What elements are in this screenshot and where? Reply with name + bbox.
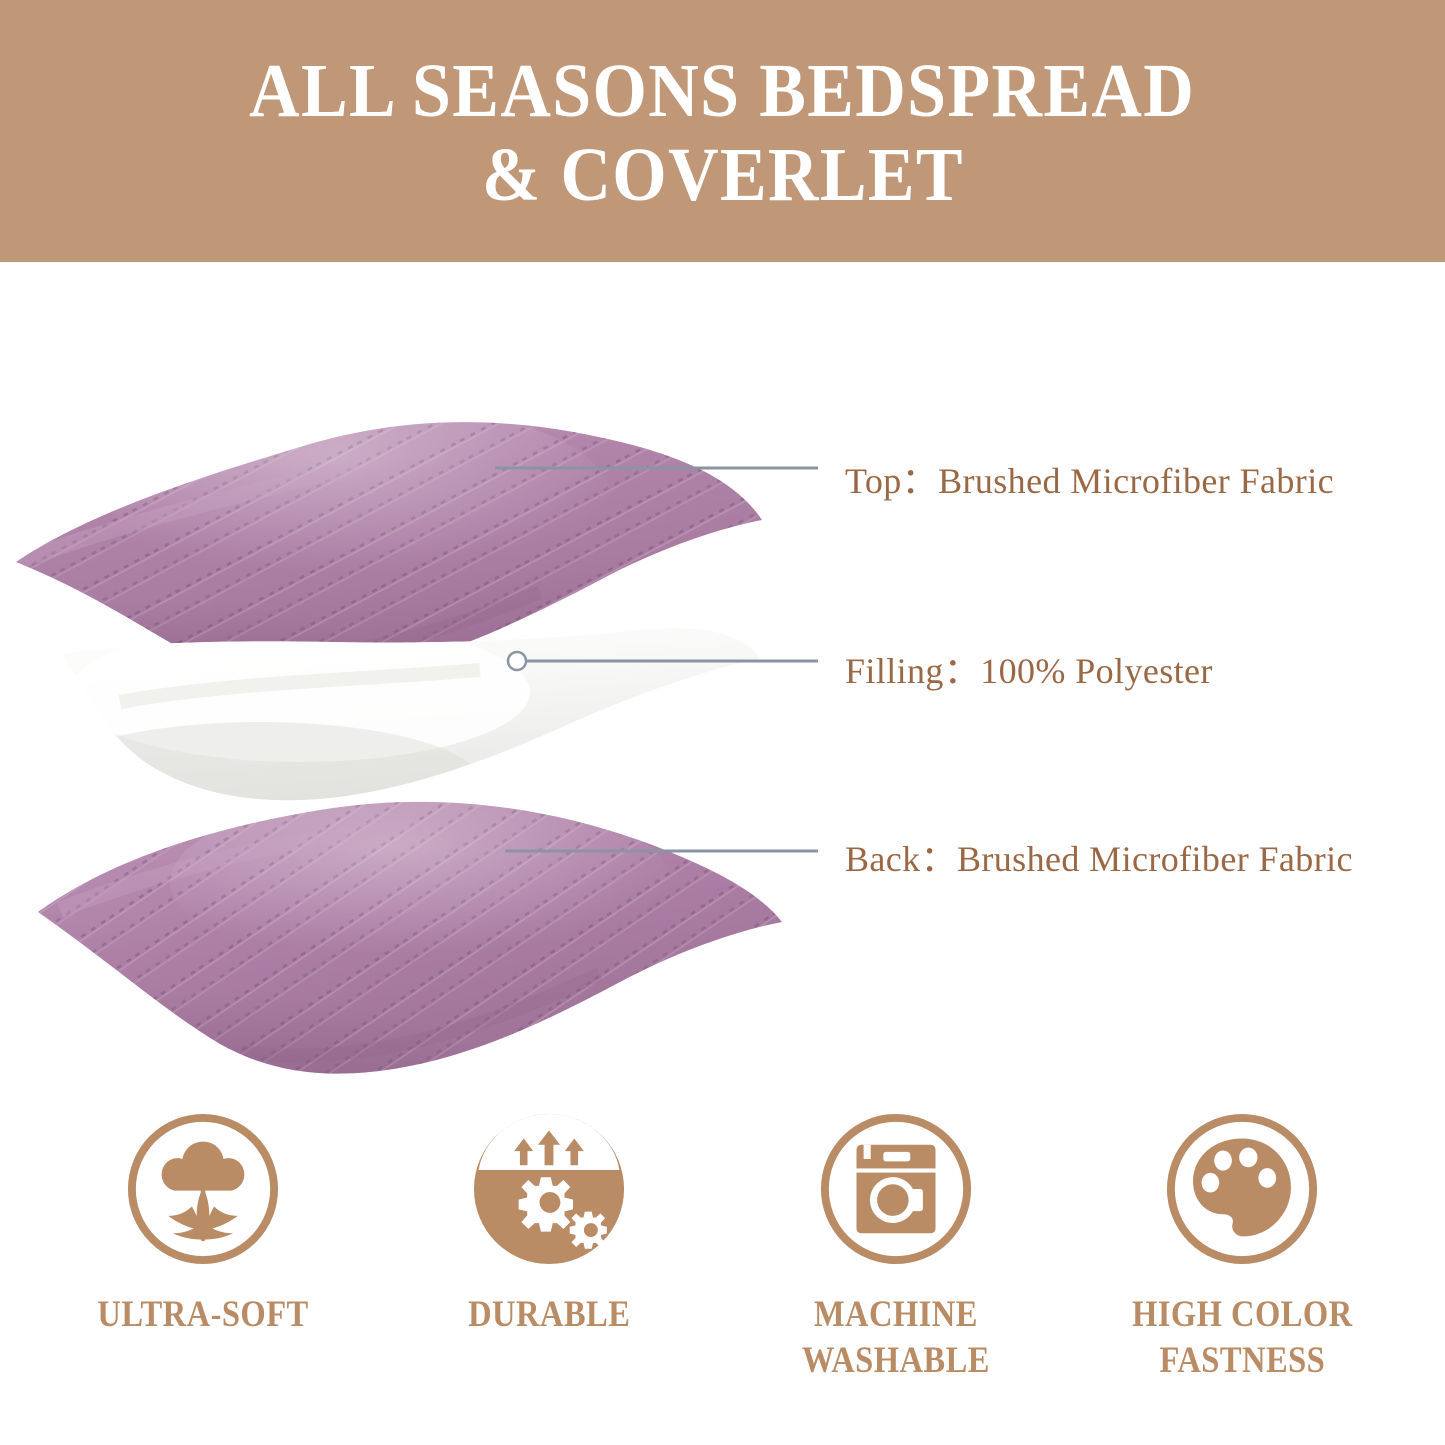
page-title-line-1: ALL SEASONS BEDSPREAD bbox=[249, 49, 1195, 133]
layer-label-back: Back：Brushed Microfiber Fabric bbox=[845, 830, 1353, 882]
feature-label-durable: DURABLE bbox=[468, 1292, 630, 1338]
feature-label-machine-washable: MACHINE WASHABLE bbox=[802, 1292, 990, 1384]
feature-high-color-fastness: HIGH COLOR FASTNESS bbox=[1092, 1110, 1392, 1384]
layer-label-filling: Filling：100% Polyester bbox=[845, 642, 1213, 694]
layer-diagram: Top：Brushed Microfiber Fabric Filling：10… bbox=[0, 262, 1445, 1100]
cotton-boll-icon bbox=[124, 1110, 282, 1268]
layer-label-top: Top：Brushed Microfiber Fabric bbox=[845, 452, 1334, 504]
feature-machine-washable: MACHINE WASHABLE bbox=[746, 1110, 1046, 1384]
feature-row: ULTRA-SOFT DURAB bbox=[0, 1110, 1445, 1445]
washing-machine-icon bbox=[817, 1110, 975, 1268]
fabric-layers-illustration bbox=[0, 262, 1445, 1100]
leader-dot-filling bbox=[508, 652, 526, 670]
feature-ultra-soft: ULTRA-SOFT bbox=[53, 1110, 353, 1338]
gears-arrows-icon bbox=[470, 1110, 628, 1268]
feature-label-high-color-fastness: HIGH COLOR FASTNESS bbox=[1132, 1292, 1353, 1384]
paint-palette-icon bbox=[1163, 1110, 1321, 1268]
header-banner: ALL SEASONS BEDSPREAD & COVERLET bbox=[0, 0, 1445, 262]
feature-durable: DURABLE bbox=[399, 1110, 699, 1338]
page-title-line-2: & COVERLET bbox=[482, 133, 964, 217]
feature-label-ultra-soft: ULTRA-SOFT bbox=[97, 1292, 308, 1338]
back-fabric-layer bbox=[0, 762, 840, 1100]
